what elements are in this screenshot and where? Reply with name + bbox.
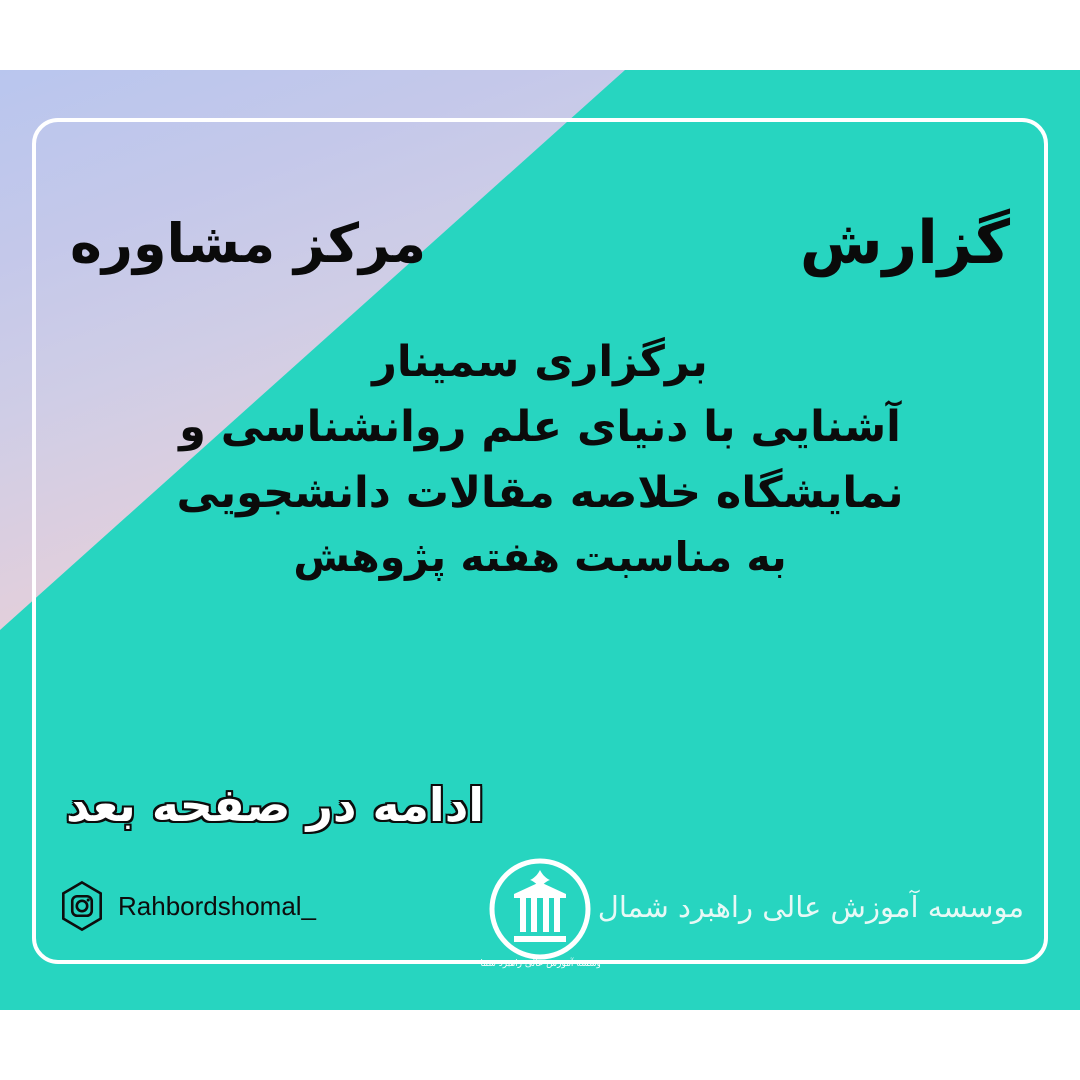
header-counseling-center-label: مرکز مشاوره [70,217,426,271]
poster-footer: Rahbordshomal_ موسسه آموزش عالی راهبرد ش… [0,870,1080,990]
poster-header: گزارش مرکز مشاوره [0,195,1080,305]
continued-next-page-note: ادامه در صفحه بعد [66,782,484,828]
title-line-4: به مناسبت هفته پژوهش [60,526,1020,588]
poster-title-block: برگزاری سمینار آشنایی با دنیای علم روانش… [60,330,1020,588]
title-line-2: آشنایی با دنیای علم روانشناسی و [60,395,1020,460]
social-handle-group[interactable]: Rahbordshomal_ [56,880,316,932]
title-line-1: برگزاری سمینار [60,330,1020,395]
organization-name: موسسه آموزش عالی راهبرد شمال [598,890,1024,924]
social-handle-text: Rahbordshomal_ [118,891,316,922]
org-logo-caption: موسسه آموزش عالی راهبرد شمال [480,957,600,969]
poster-canvas: گزارش مرکز مشاوره برگزاری سمینار آشنایی … [0,70,1080,1010]
title-line-3: نمایشگاه خلاصه مقالات دانشجویی [60,461,1020,526]
header-report-label: گزارش [800,213,1010,273]
instagram-icon[interactable] [56,880,108,932]
university-crest-logo: موسسه آموزش عالی راهبرد شمال [480,854,600,984]
